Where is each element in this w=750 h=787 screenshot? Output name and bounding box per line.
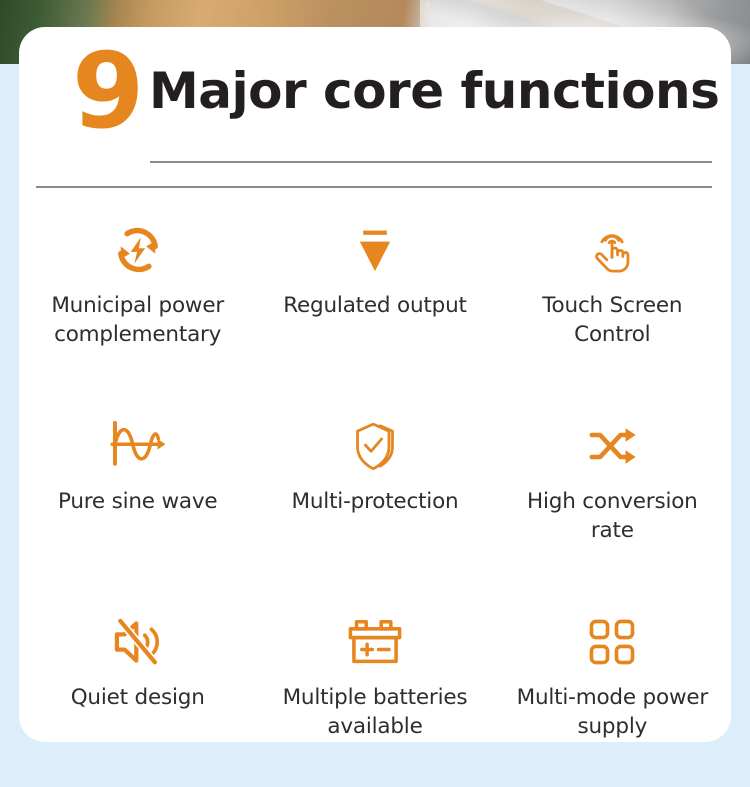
touch-hand-icon — [581, 219, 643, 281]
feature-label: Municipal power complementary — [32, 291, 244, 349]
feature-item-touch-screen: Touch Screen Control — [494, 205, 731, 393]
feature-label: Pure sine wave — [58, 487, 217, 516]
feature-label: High conversion rate — [506, 487, 718, 545]
feature-label: Multi-protection — [292, 487, 459, 516]
feature-grid: Municipal power complementary Regulated … — [19, 205, 731, 769]
feature-item-multi-mode-power: Multi-mode power supply — [494, 581, 731, 769]
feature-label: Multi-mode power supply — [506, 683, 718, 741]
feature-label: Quiet design — [71, 683, 205, 712]
car-battery-icon — [344, 611, 406, 673]
feature-label: Touch Screen Control — [506, 291, 718, 349]
feature-item-municipal-power: Municipal power complementary — [19, 205, 256, 393]
page-title: Major core functions — [149, 63, 719, 119]
feature-label: Multiple batteries available — [269, 683, 481, 741]
feature-item-high-conversion: High conversion rate — [494, 393, 731, 581]
feature-label: Regulated output — [283, 291, 466, 320]
product-feature-page: 9 Major core functions — [0, 0, 750, 787]
header-divider-bottom — [36, 186, 712, 188]
speaker-mute-icon — [107, 611, 169, 673]
card-header: 9 Major core functions — [19, 27, 731, 177]
sine-wave-icon — [107, 415, 169, 477]
feature-item-quiet-design: Quiet design — [19, 581, 256, 769]
feature-card: 9 Major core functions — [19, 27, 731, 742]
header-divider-top — [150, 161, 712, 163]
feature-item-regulated-output: Regulated output — [256, 205, 493, 393]
shuffle-arrows-icon — [581, 415, 643, 477]
feature-item-pure-sine-wave: Pure sine wave — [19, 393, 256, 581]
feature-count-number: 9 — [72, 39, 142, 143]
feature-item-multi-protection: Multi-protection — [256, 393, 493, 581]
grid-squares-icon — [581, 611, 643, 673]
feature-item-multiple-batteries: Multiple batteries available — [256, 581, 493, 769]
refresh-power-icon — [107, 219, 169, 281]
voltage-v-icon — [344, 219, 406, 281]
shield-check-icon — [344, 415, 406, 477]
